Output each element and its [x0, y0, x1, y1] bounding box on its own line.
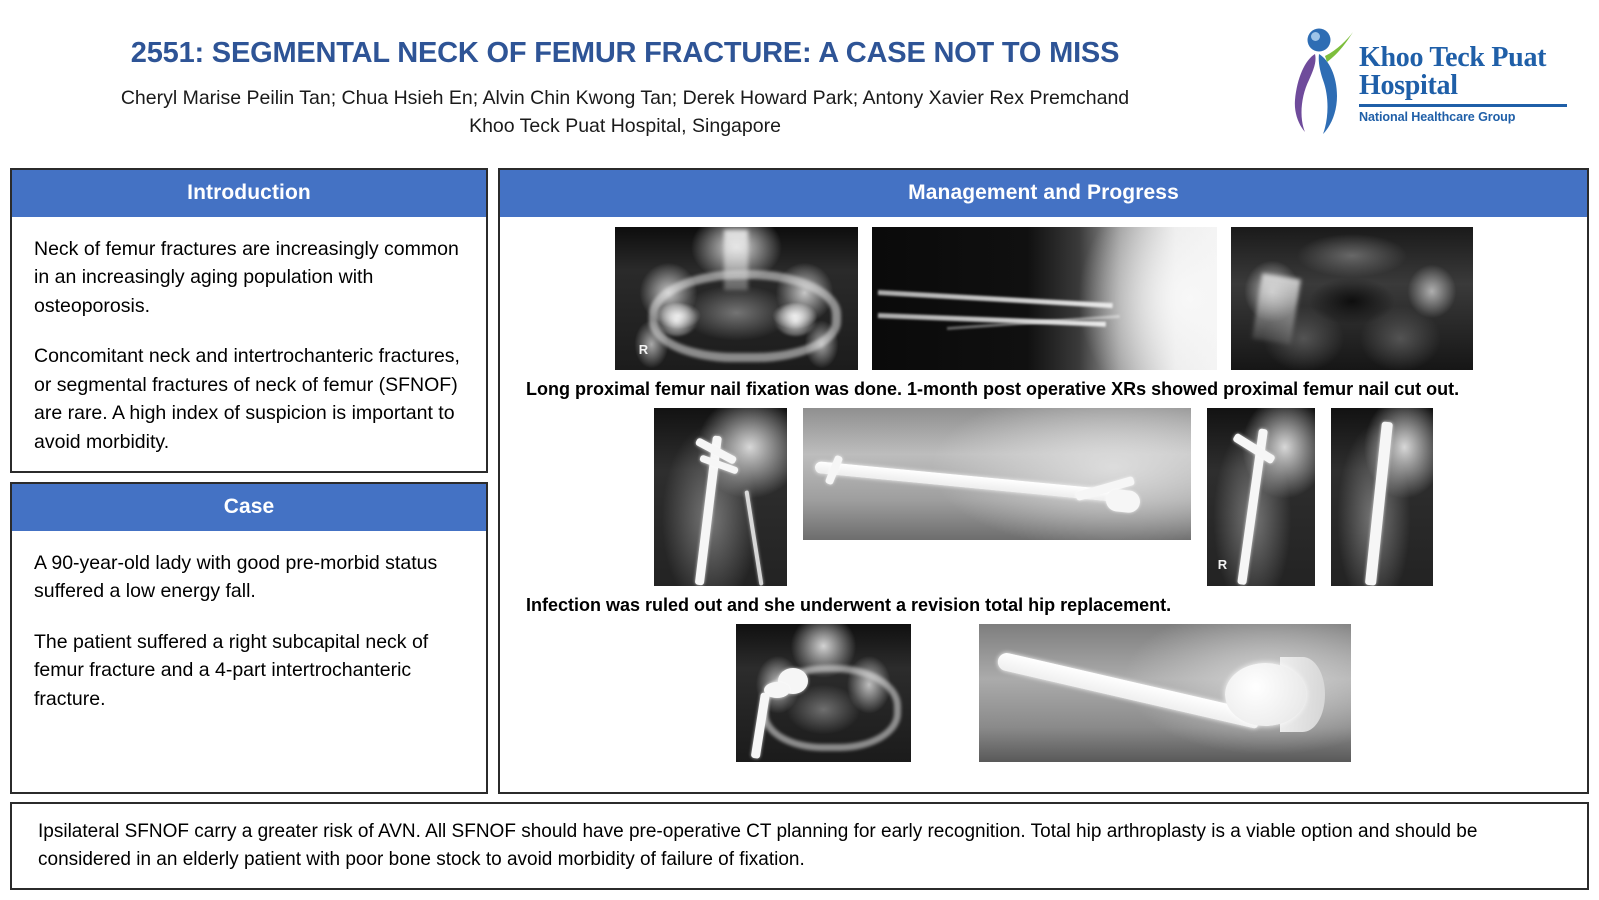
panel-case-heading: Case	[12, 484, 486, 531]
conclusion-panel: Ipsilateral SFNOF carry a greater risk o…	[10, 802, 1589, 890]
xray-long-nail-lateral	[803, 408, 1191, 540]
image-row-preop: R	[512, 227, 1575, 370]
logo-divider	[1359, 104, 1567, 107]
logo-subtitle: National Healthcare Group	[1359, 110, 1571, 124]
panel-management-body: R Long proximal femur nail fixation was …	[500, 217, 1587, 768]
panel-management-heading: Management and Progress	[500, 170, 1587, 217]
logo-name-line1: Khoo Teck Puat	[1359, 44, 1571, 72]
panel-introduction-heading: Introduction	[12, 170, 486, 217]
case-paragraph-1: A 90-year-old lady with good pre-morbid …	[34, 549, 464, 606]
xray-nail-cutout-ap: R	[1207, 408, 1315, 586]
xray-thr-pelvis-ap	[736, 624, 911, 762]
logo-wordmark: Khoo Teck Puat Hospital National Healthc…	[1359, 44, 1571, 124]
case-paragraph-2: The patient suffered a right subcapital …	[34, 628, 464, 713]
xray-thr-lateral	[979, 624, 1351, 762]
intro-paragraph-1: Neck of femur fractures are increasingly…	[34, 235, 464, 320]
image-row-thr	[512, 624, 1575, 762]
management-caption-2: Infection was ruled out and she underwen…	[512, 586, 1575, 624]
xray-nail-cutout-lateral	[1331, 408, 1433, 586]
panel-introduction-body: Neck of femur fractures are increasingly…	[12, 217, 486, 466]
right-column: Management and Progress R	[498, 168, 1589, 794]
xray-femur-lateral-preop	[872, 227, 1217, 370]
panel-case: Case A 90-year-old lady with good pre-mo…	[10, 482, 488, 794]
intro-paragraph-2: Concomitant neck and intertrochanteric f…	[34, 342, 464, 456]
header-text-block: 2551: SEGMENTAL NECK OF FEMUR FRACTURE: …	[0, 0, 1250, 140]
hospital-logo: Khoo Teck Puat Hospital National Healthc…	[1277, 22, 1577, 140]
left-femoral-head-shadow	[656, 304, 697, 335]
panel-management: Management and Progress R	[498, 168, 1589, 794]
ktph-figure-icon	[1285, 26, 1357, 138]
panel-introduction: Introduction Neck of femur fractures are…	[10, 168, 488, 473]
management-caption-1: Long proximal femur nail fixation was do…	[512, 370, 1575, 408]
page-title: 2551: SEGMENTAL NECK OF FEMUR FRACTURE: …	[0, 38, 1250, 70]
xray-pfn-ap-postop	[654, 408, 787, 586]
right-femoral-head-shadow	[775, 304, 816, 335]
pfn-bone-field	[654, 408, 787, 586]
logo-name-line2: Hospital	[1359, 72, 1571, 100]
side-marker-right-cutout: R	[1218, 556, 1227, 575]
conclusion-text: Ipsilateral SFNOF carry a greater risk o…	[38, 821, 1477, 870]
poster-body: Introduction Neck of femur fractures are…	[10, 168, 1589, 794]
author-list: Cheryl Marise Peilin Tan; Chua Hsieh En;…	[0, 84, 1250, 112]
xray-pelvis-ap-preop: R	[615, 227, 858, 370]
affiliation: Khoo Teck Puat Hospital, Singapore	[0, 112, 1250, 140]
lumbar-spine-shadow	[724, 230, 748, 290]
poster-header: 2551: SEGMENTAL NECK OF FEMUR FRACTURE: …	[0, 0, 1599, 160]
thr-prosthetic-head-hardware	[1225, 663, 1307, 726]
image-row-fixation: R	[512, 408, 1575, 586]
panel-case-body: A 90-year-old lady with good pre-morbid …	[12, 531, 486, 723]
mri-pelvis-coronal	[1231, 227, 1473, 370]
side-marker-right: R	[639, 341, 648, 360]
left-column: Introduction Neck of femur fractures are…	[10, 168, 488, 794]
